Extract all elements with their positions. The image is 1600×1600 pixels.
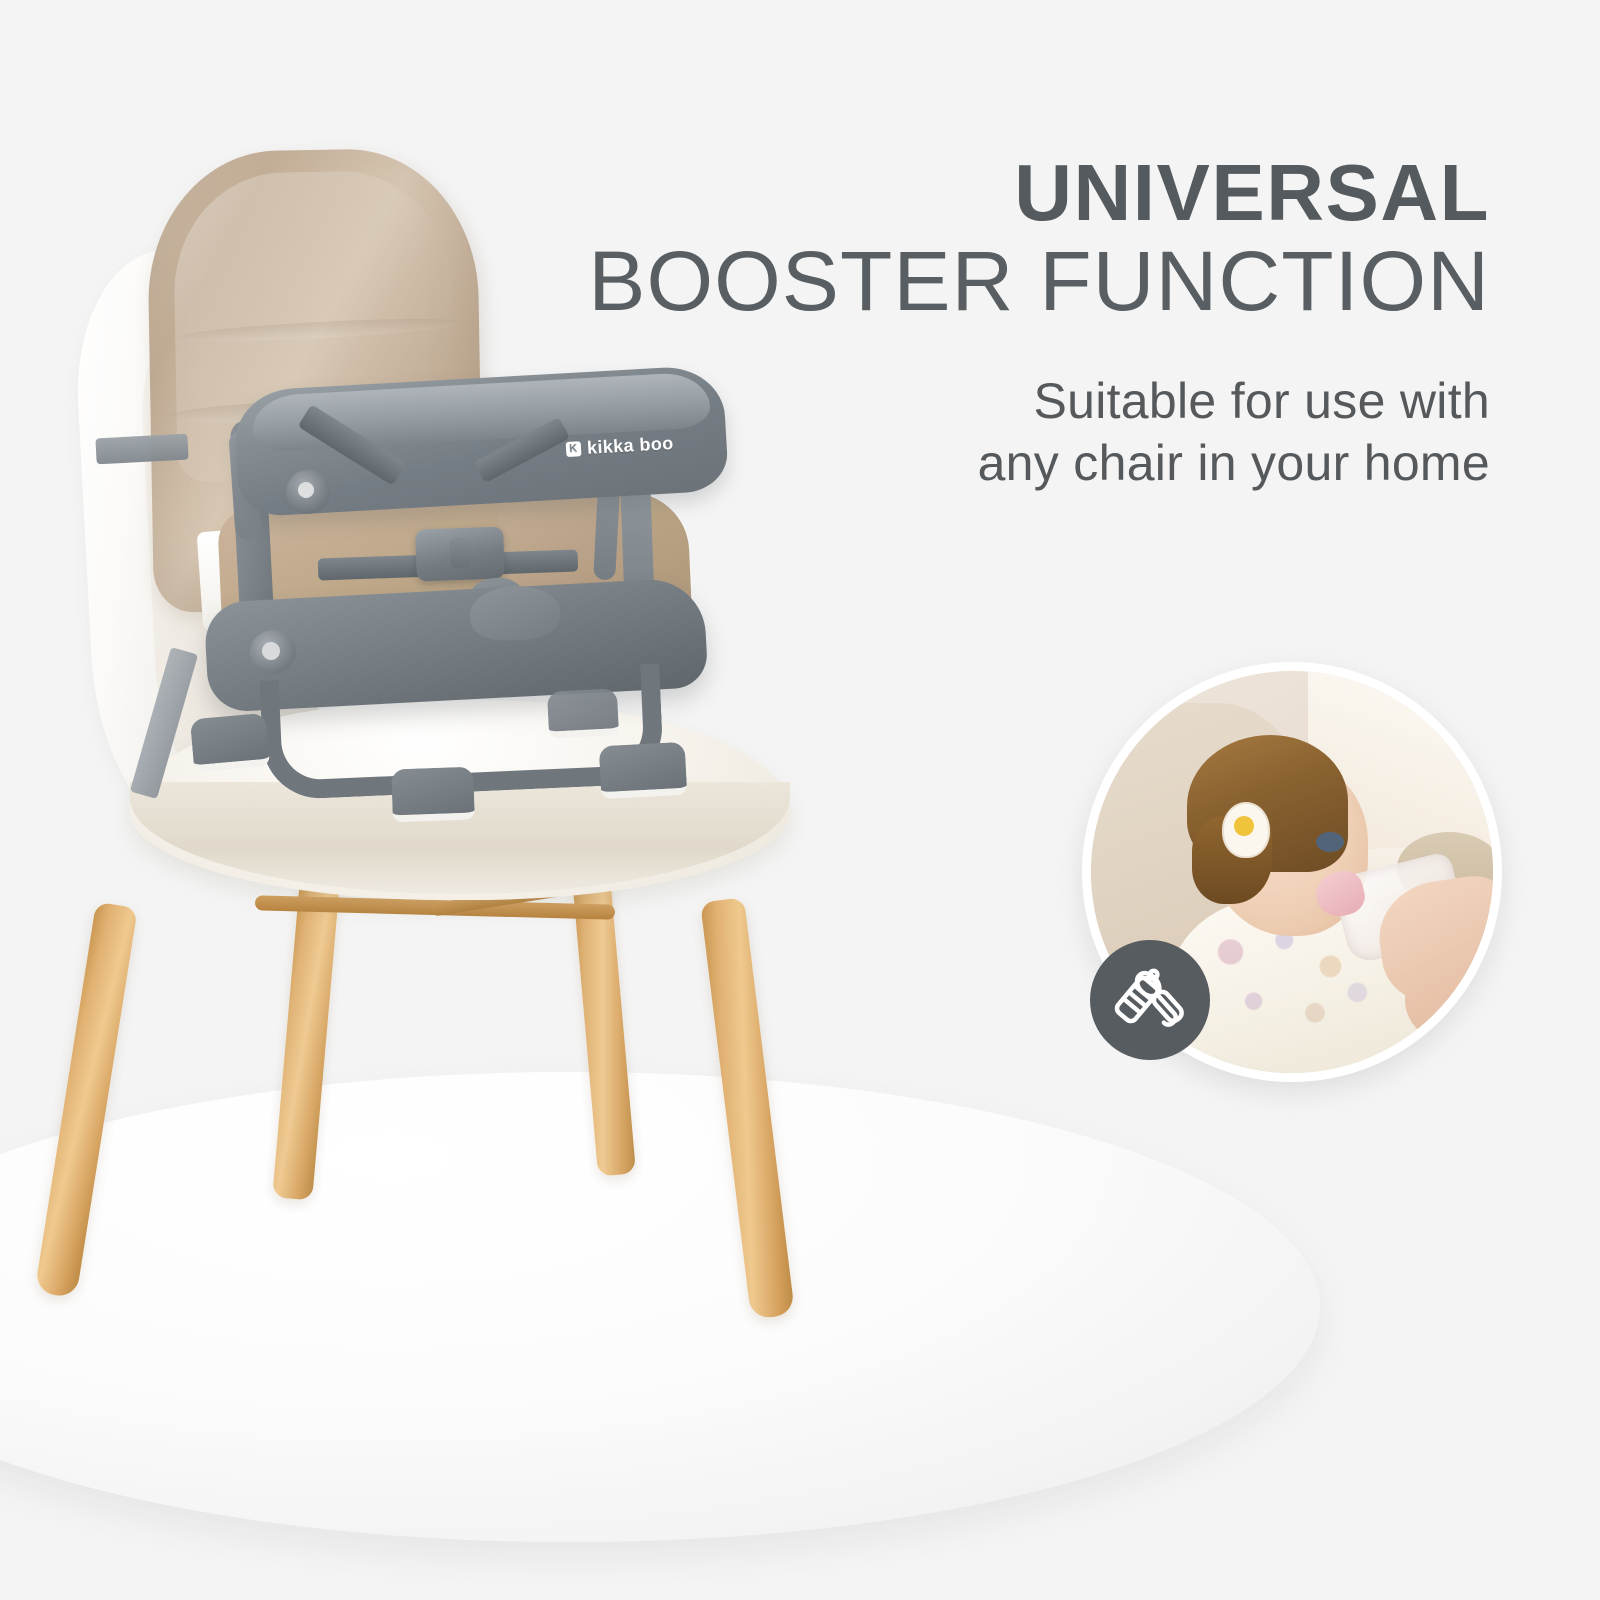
bottle-and-spoon-icon — [1107, 957, 1193, 1043]
marketing-copy: UNIVERSAL BOOSTER FUNCTION Suitable for … — [560, 150, 1490, 494]
round-table-surface — [0, 1072, 1320, 1542]
lifestyle-inset — [1082, 662, 1502, 1082]
photo-hairclip-center — [1234, 816, 1254, 836]
booster-foot-back-right — [547, 688, 619, 739]
booster-foot-front-left — [190, 713, 270, 772]
subtitle: Suitable for use with any chair in your … — [560, 370, 1490, 494]
headline-primary: UNIVERSAL — [560, 150, 1490, 236]
subtitle-line-2: any chair in your home — [560, 432, 1490, 494]
headline-secondary: BOOSTER FUNCTION — [541, 236, 1490, 326]
booster-hinge-upper-dot — [298, 482, 314, 498]
harness-buckle — [415, 526, 505, 581]
product-banner: K kikka boo UNIVERSAL BOOSTER FUNCTION S… — [0, 0, 1600, 1600]
subtitle-line-1: Suitable for use with — [560, 370, 1490, 432]
chair-attachment-strap-top — [95, 434, 188, 465]
booster-foot-front-right — [599, 742, 688, 799]
booster-hinge-lower-dot — [262, 642, 280, 660]
feeding-badge — [1090, 940, 1210, 1060]
booster-foot-back-left — [391, 767, 475, 823]
photo-baby-eye — [1316, 832, 1344, 852]
